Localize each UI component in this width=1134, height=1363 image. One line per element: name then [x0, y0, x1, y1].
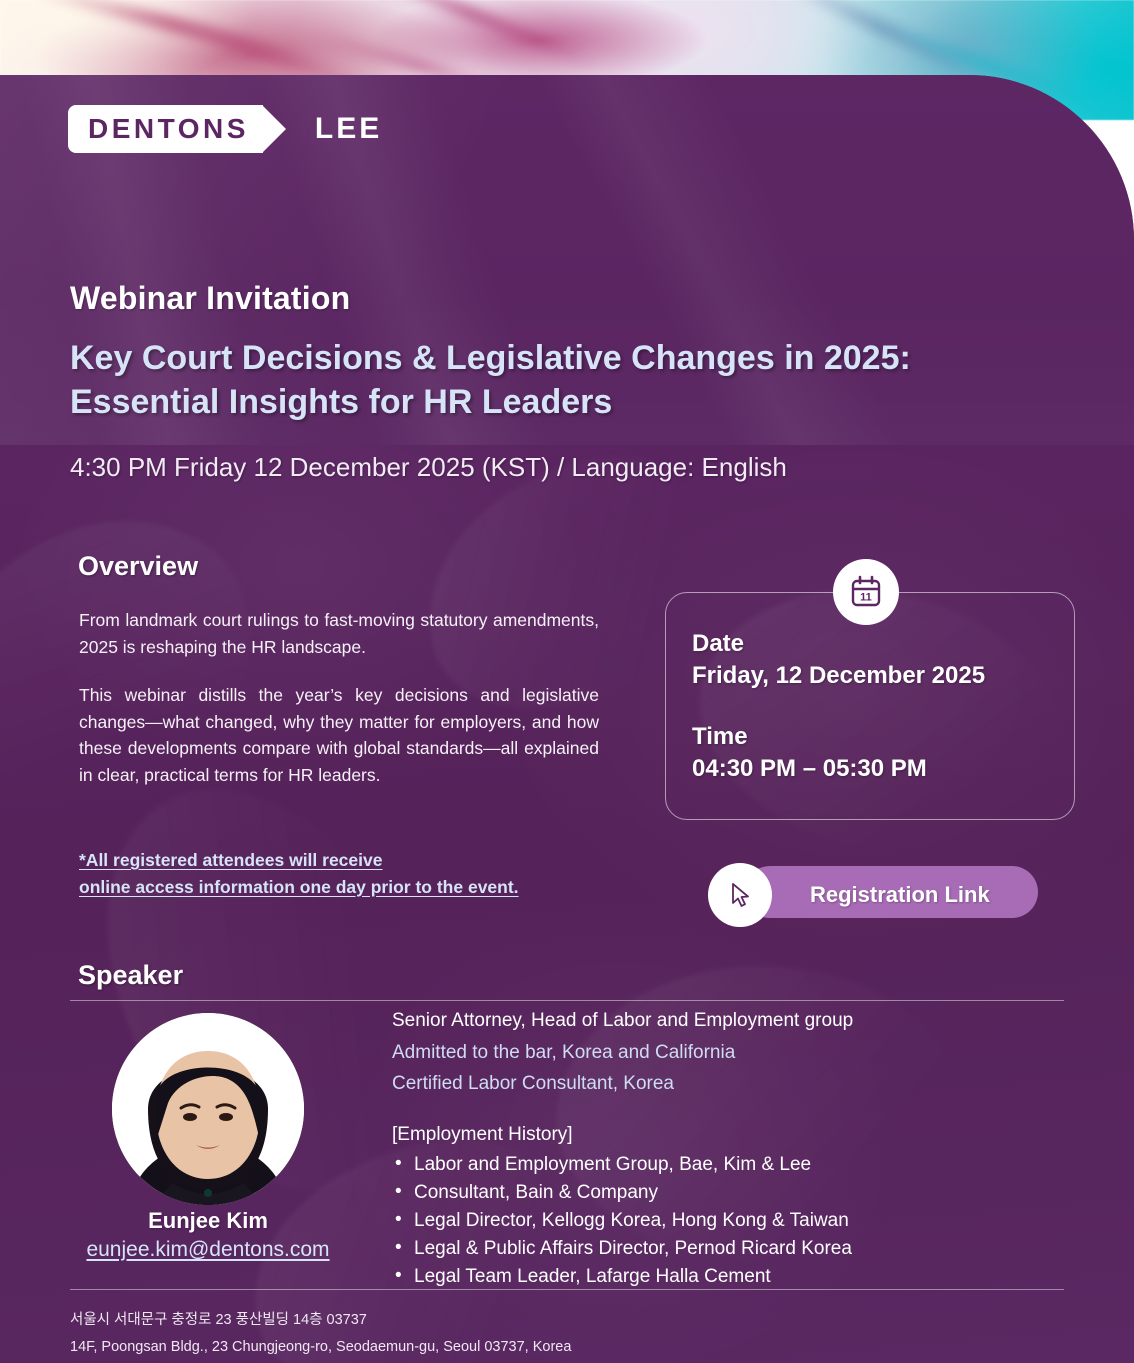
event-details-text: Date Friday, 12 December 2025 Time 04:30…	[692, 628, 985, 786]
footer-address-english: 14F, Poongsan Bldg., 23 Chungjeong-ro, S…	[70, 1340, 1070, 1355]
overview-heading: Overview	[78, 551, 198, 582]
registration-link-label: Registration Link	[810, 882, 990, 908]
date-value: Friday, 12 December 2025	[692, 660, 985, 692]
employment-history-list: Labor and Employment Group, Bae, Kim & L…	[392, 1151, 1012, 1291]
speaker-avatar	[112, 1013, 304, 1205]
overview-paragraph-1: From landmark court rulings to fast-movi…	[79, 607, 599, 660]
list-item: Legal Director, Kellogg Korea, Hong Kong…	[392, 1207, 1012, 1235]
registration-link-button[interactable]: Registration Link	[708, 863, 990, 927]
speaker-heading: Speaker	[78, 960, 183, 991]
list-item: Labor and Employment Group, Bae, Kim & L…	[392, 1151, 1012, 1179]
list-item: Consultant, Bain & Company	[392, 1179, 1012, 1207]
dentons-lee-logo: DENTONS LEE	[68, 105, 382, 153]
footer-divider	[70, 1289, 1064, 1290]
kicker-label: Webinar Invitation	[70, 280, 350, 317]
footer-address-korean: 서울시 서대문구 충정로 23 풍산빌딩 14층 03737	[70, 1313, 1070, 1328]
logo-plate: DENTONS	[68, 105, 263, 153]
time-value: 04:30 PM – 05:30 PM	[692, 753, 985, 785]
overview-body: From landmark court rulings to fast-movi…	[79, 607, 599, 789]
main-purple-panel: DENTONS LEE Webinar Invitation Key Court…	[0, 75, 1134, 1363]
speaker-title-line: Senior Attorney, Head of Labor and Emplo…	[392, 1005, 1012, 1037]
cursor-click-icon	[708, 863, 772, 927]
registration-note-line-1: *All registered attendees will receive	[79, 847, 382, 874]
registration-note: *All registered attendees will receive o…	[79, 847, 639, 900]
page-title-line-1: Key Court Decisions & Legislative Change…	[70, 337, 1100, 381]
date-label: Date	[692, 628, 985, 660]
logo-lee-text: LEE	[315, 112, 382, 146]
webinar-invitation-page: DENTONS LEE Webinar Invitation Key Court…	[0, 0, 1134, 1363]
speaker-divider-top	[70, 1000, 1064, 1001]
event-datetime-language: 4:30 PM Friday 12 December 2025 (KST) / …	[70, 452, 787, 483]
calendar-icon-day: 11	[860, 592, 872, 604]
calendar-icon: 11	[833, 559, 899, 625]
page-title-line-2: Essential Insights for HR Leaders	[70, 381, 1100, 425]
speaker-credential-2: Certified Labor Consultant, Korea	[392, 1068, 1012, 1100]
overview-paragraph-2: This webinar distills the year’s key dec…	[79, 682, 599, 788]
employment-history-heading: [Employment History]	[392, 1120, 1012, 1149]
page-title: Key Court Decisions & Legislative Change…	[70, 337, 1100, 424]
speaker-email-link[interactable]: eunjee.kim@dentons.com	[52, 1238, 364, 1262]
registration-note-line-2: online access information one day prior …	[79, 874, 519, 901]
list-item: Legal Team Leader, Lafarge Halla Cement	[392, 1263, 1012, 1291]
speaker-name: Eunjee Kim	[112, 1208, 304, 1234]
logo-dentons-text: DENTONS	[88, 113, 249, 145]
speaker-bio: Senior Attorney, Head of Labor and Emplo…	[392, 1005, 1012, 1291]
speaker-credential-1: Admitted to the bar, Korea and Californi…	[392, 1037, 1012, 1069]
time-label: Time	[692, 721, 985, 753]
footer: 서울시 서대문구 충정로 23 풍산빌딩 14층 03737 14F, Poon…	[70, 1313, 1070, 1363]
list-item: Legal & Public Affairs Director, Pernod …	[392, 1235, 1012, 1263]
